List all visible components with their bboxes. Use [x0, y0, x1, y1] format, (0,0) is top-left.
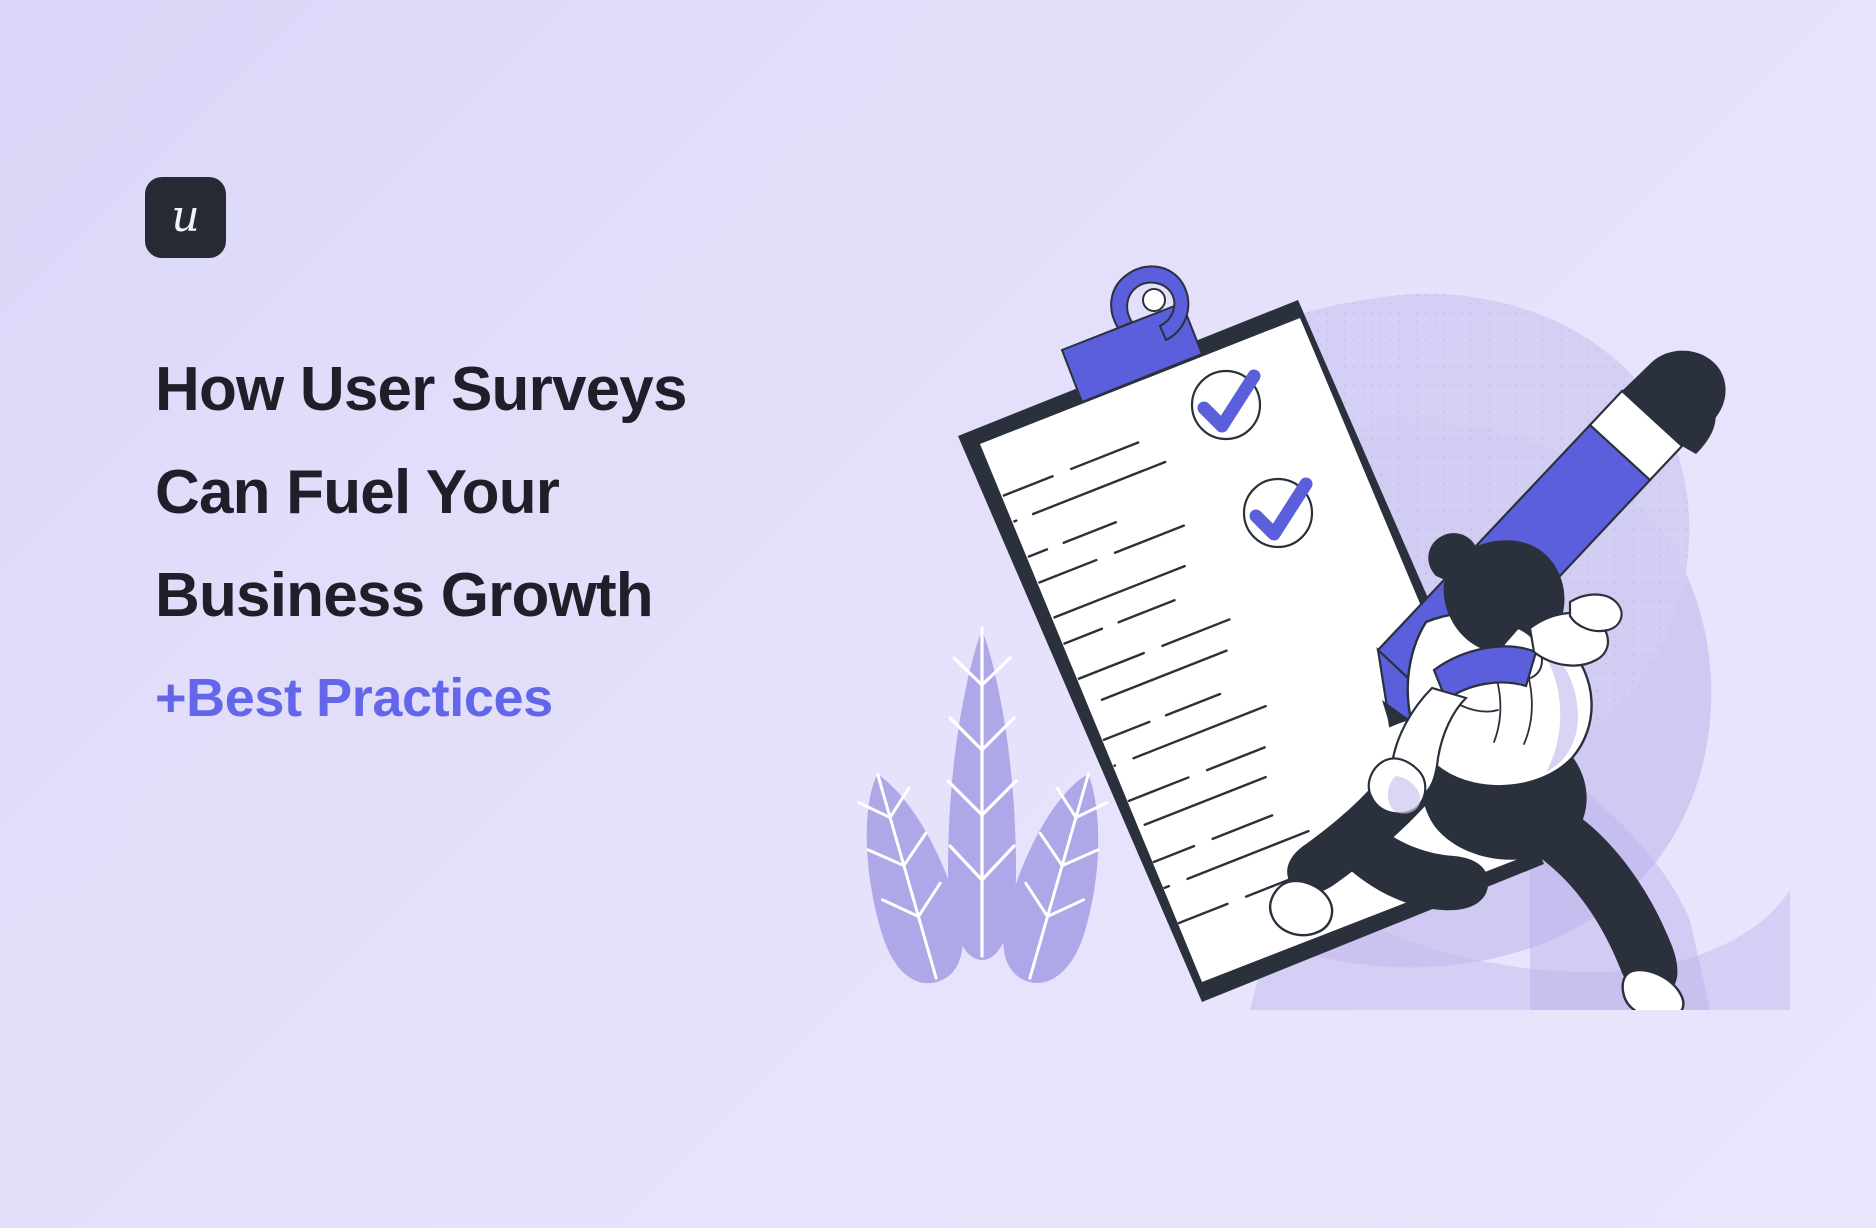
poster-canvas: u How User Surveys Can Fuel Your Busines…	[0, 0, 1876, 1228]
headline-block: How User Surveys Can Fuel Your Business …	[155, 338, 855, 750]
hero-illustration	[830, 230, 1840, 1010]
page-subtitle: +Best Practices	[155, 647, 855, 750]
page-title-line-3: Business Growth	[155, 544, 855, 647]
brand-logo[interactable]: u	[145, 177, 226, 258]
page-title-line-1: How User Surveys	[155, 338, 855, 441]
page-title-line-2: Can Fuel Your	[155, 441, 855, 544]
userpilot-u-logo-icon: u	[171, 195, 199, 239]
